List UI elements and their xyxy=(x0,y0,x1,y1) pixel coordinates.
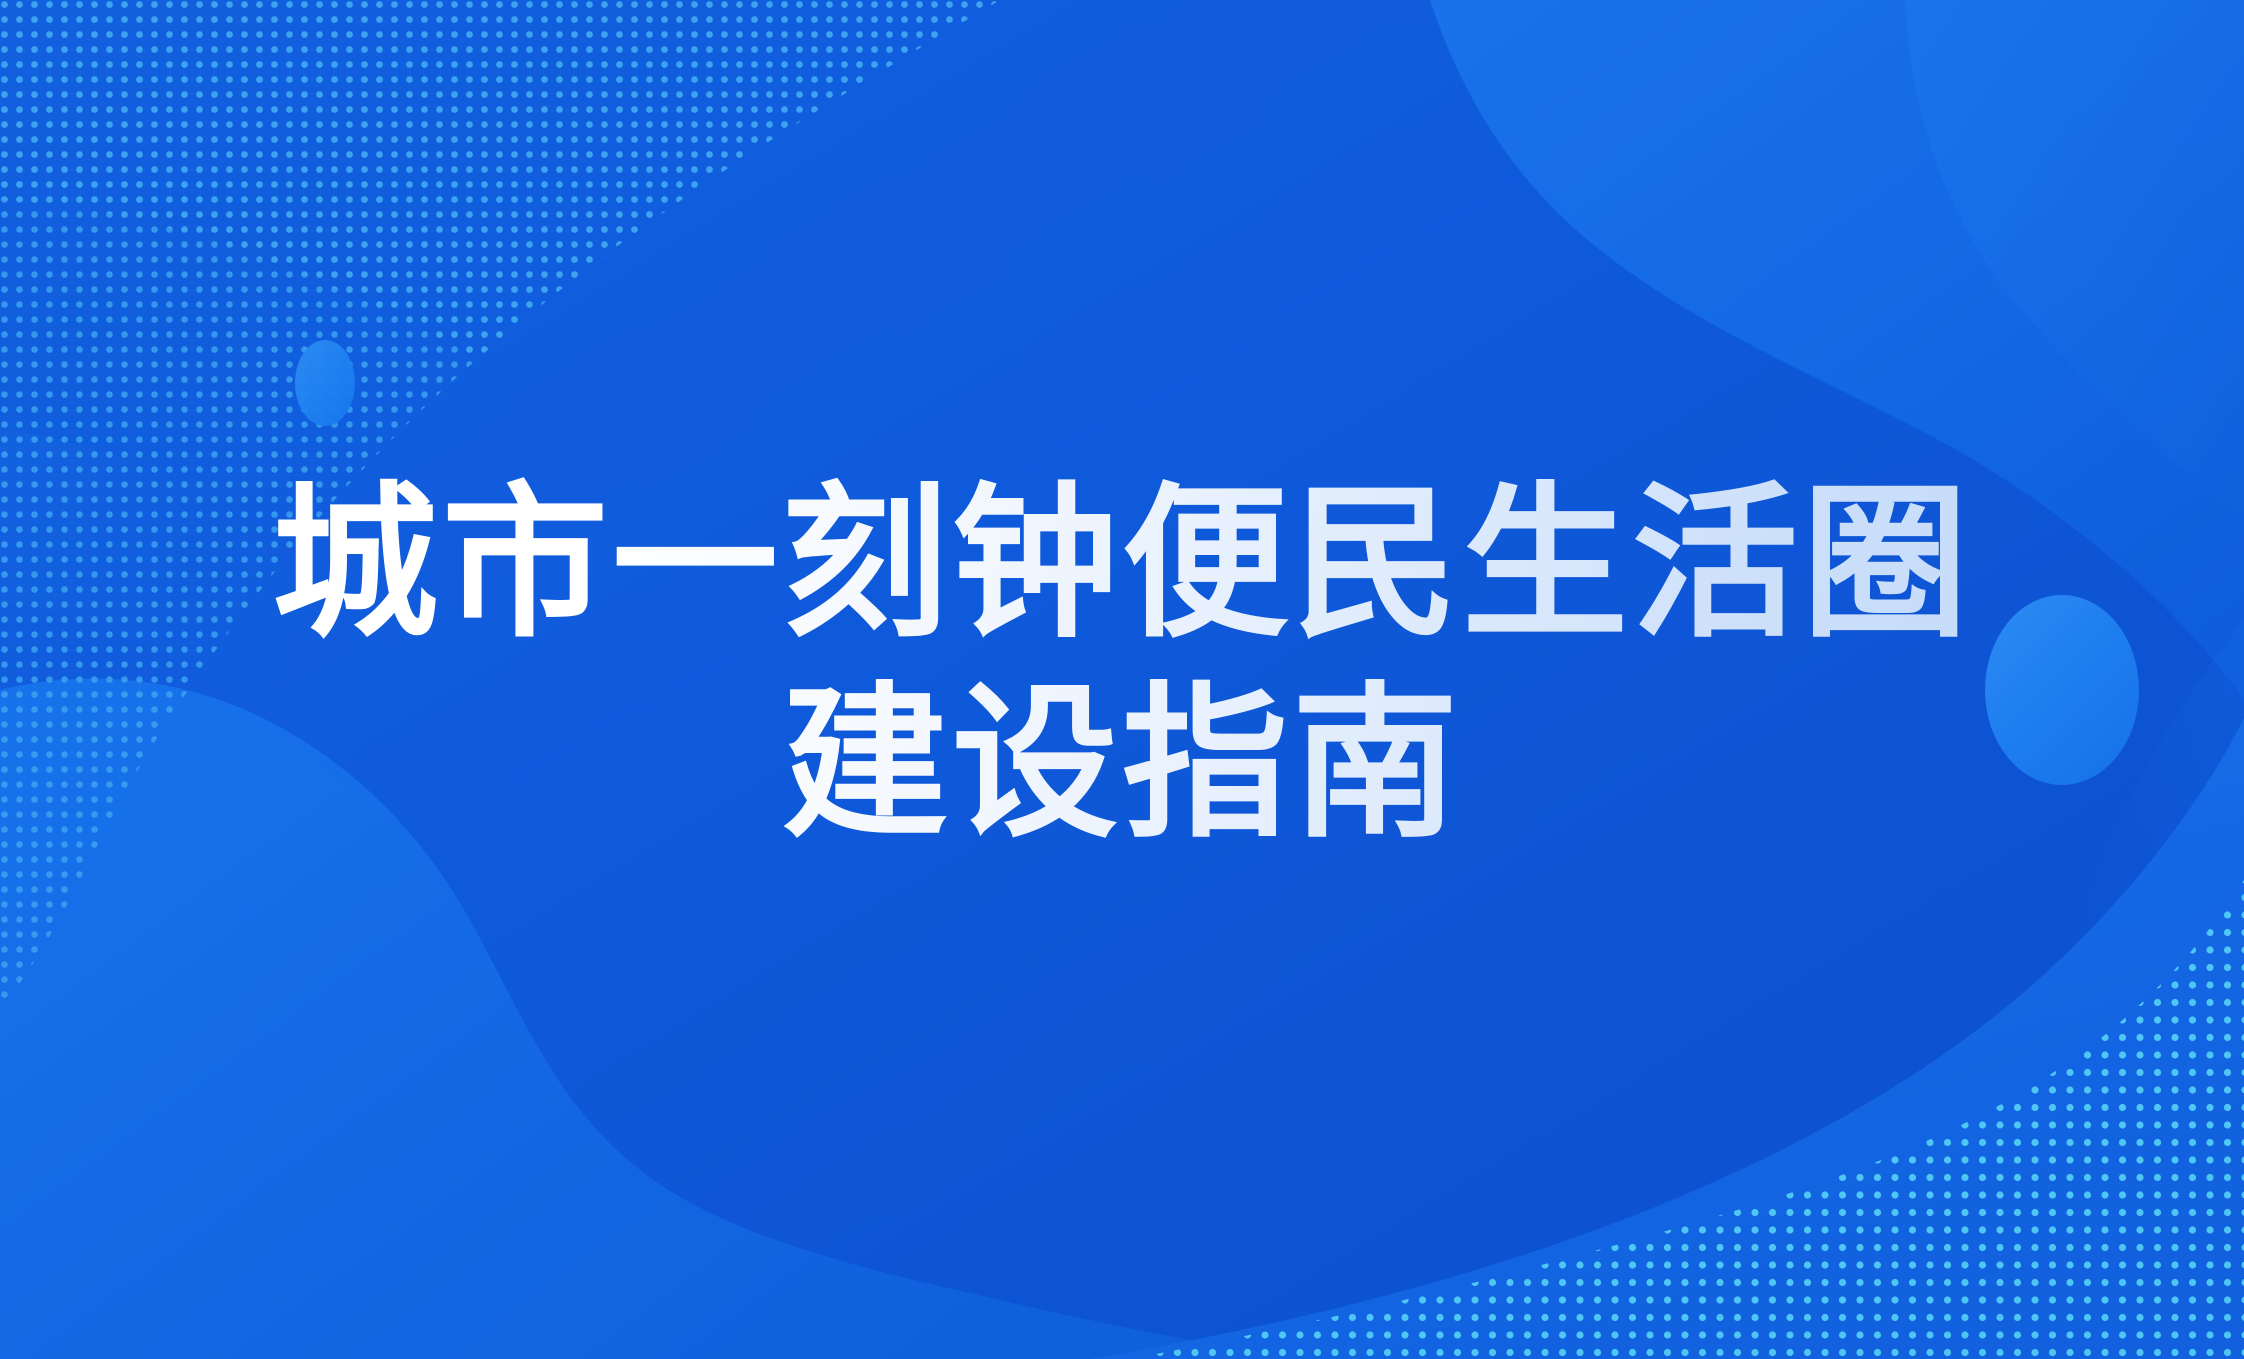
left-small-ellipse xyxy=(295,340,355,426)
title-line-1: 城市一刻钟便民生活圈 xyxy=(0,465,2244,665)
poster-canvas: 城市一刻钟便民生活圈 建设指南 xyxy=(0,0,2244,1359)
poster-title-block: 城市一刻钟便民生活圈 建设指南 xyxy=(0,465,2244,865)
title-line-2: 建设指南 xyxy=(0,665,2244,865)
